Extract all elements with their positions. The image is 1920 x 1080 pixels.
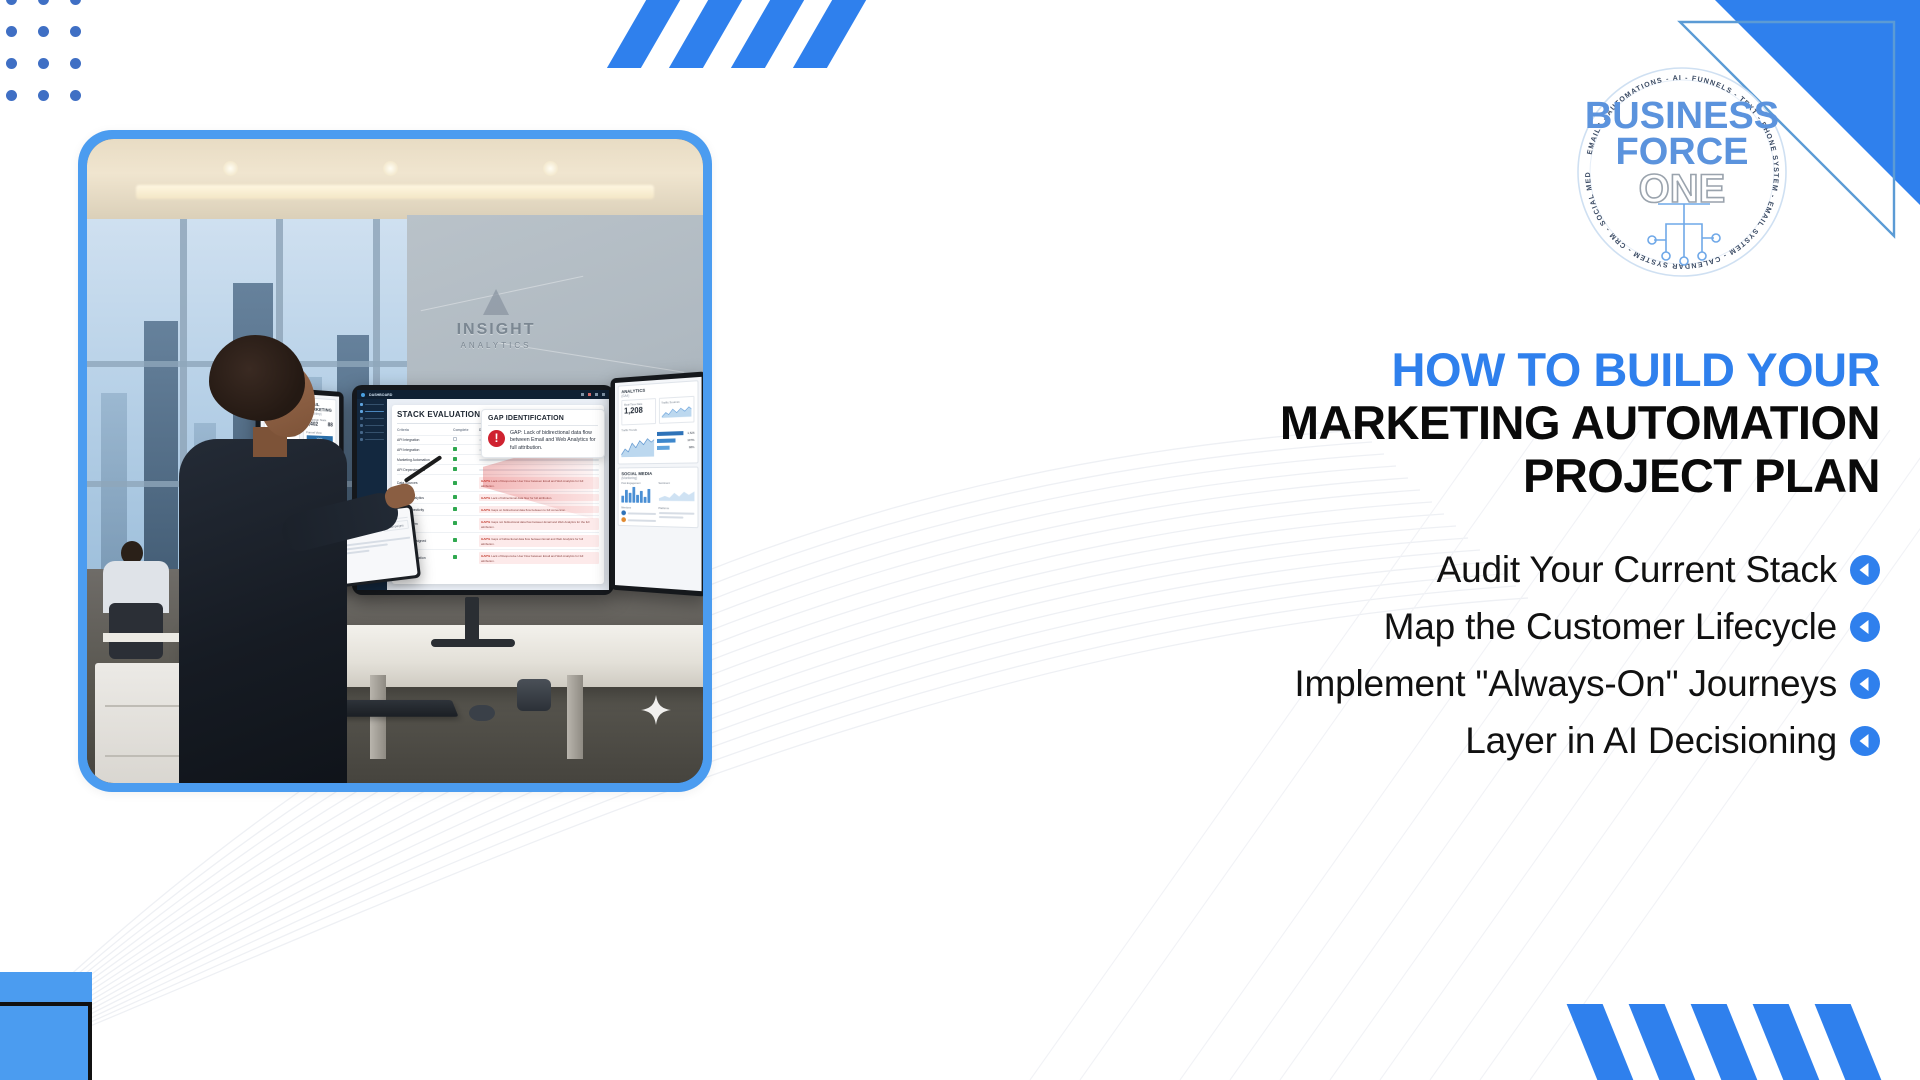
stack-row-gap-tag: GAP% (481, 537, 490, 541)
bullet-label: Implement "Always-On" Journeys (1294, 663, 1837, 705)
stack-row[interactable]: Migration DesignedGAP% Gaps of bidirecti… (397, 532, 599, 547)
col-criteria: Criteria (397, 428, 451, 432)
stack-row-check-icon (453, 437, 457, 441)
decor-stripes-top (630, 0, 930, 64)
alert-exclamation-icon: ! (488, 430, 505, 447)
dashboard-topbar-title: DASHBOARD (369, 393, 392, 397)
photo-person (173, 335, 349, 783)
stack-row-gap-tag: GAP% (481, 496, 490, 500)
stack-row-note: Gaps not bidirectional data flow between… (481, 520, 589, 529)
decor-stripes-bottom (1584, 1008, 1904, 1080)
stack-row-note: Gaps of bidirectional data flow between … (481, 537, 583, 546)
bullet-item[interactable]: Map the Customer Lifecycle (900, 606, 1880, 648)
chevron-left-circle-icon[interactable] (1850, 726, 1880, 756)
stack-row[interactable]: Data ConsolidationGAP% Lack of Responsiv… (397, 549, 599, 564)
gap-card-body: GAP: Lack of bidirectional data flow bet… (510, 430, 598, 453)
stack-row-check-icon (453, 467, 457, 471)
stack-row-check-icon (453, 495, 457, 499)
bullet-item[interactable]: Layer in AI Decisioning (900, 720, 1880, 762)
channel-2-value: 98% (689, 445, 695, 449)
channel-0-value: 1,526 (687, 431, 694, 435)
monitor-stand-neck (465, 597, 479, 641)
bullet-label: Layer in AI Decisioning (1465, 720, 1837, 762)
gap-identification-card: GAP IDENTIFICATION ! GAP: Lack of bidire… (481, 409, 605, 458)
photo-mouse (469, 705, 495, 721)
stack-row-gap-tag: GAP% (481, 508, 490, 512)
chevron-left-circle-icon[interactable] (1850, 612, 1880, 642)
stack-row-check-icon (453, 481, 457, 485)
hero-photo: INSIGHT ANALYTICS CRM (HubSpot) (87, 139, 703, 783)
bullet-list: Audit Your Current StackMap the Customer… (900, 549, 1880, 762)
stack-row-check-icon (453, 521, 457, 525)
bullet-item[interactable]: Audit Your Current Stack (900, 549, 1880, 591)
insight-analytics-name: INSIGHT (457, 321, 536, 339)
photo-wall-brand: INSIGHT ANALYTICS (457, 289, 536, 350)
stack-row-gap-tag: GAP% (481, 520, 490, 524)
col-complete: Complete (453, 428, 477, 432)
gap-card-title: GAP IDENTIFICATION (488, 415, 598, 422)
stack-row-note: Lack of Responsive User Flow between Ema… (481, 554, 583, 563)
photo-ceiling (87, 139, 703, 225)
channel-1-value: 107% (687, 438, 694, 442)
logo-circuit-icon (1648, 204, 1720, 265)
chevron-left-circle-icon[interactable] (1850, 669, 1880, 699)
headline-line-2: MARKETING AUTOMATION (900, 396, 1880, 450)
insight-analytics-mark (483, 289, 509, 315)
brand-logo: EMAILS - AUTOMATIONS - AI - FUNNELS - TE… (1562, 52, 1802, 292)
stack-row-check-icon (453, 457, 457, 461)
stack-row-note: Gaps on bidirectional data flow between … (491, 508, 566, 512)
headline-block: HOW TO BUILD YOUR MARKETING AUTOMATION P… (900, 345, 1880, 777)
photo-monitor-right: ANALYTICS (GA4) Real-Time Data 1,208 Tra… (610, 371, 703, 596)
social-panel-subtitle: (Monitoring) (621, 476, 694, 480)
stack-row-label: API Integration (397, 438, 451, 442)
stack-row-label: Marketing Automation (397, 458, 451, 462)
social-card-2: Mentions (621, 506, 655, 510)
bullet-label: Map the Customer Lifecycle (1384, 606, 1837, 648)
stack-row-check-icon (453, 538, 457, 542)
decor-bottom-left-outline (0, 1002, 92, 1080)
chevron-left-circle-icon[interactable] (1850, 555, 1880, 585)
stack-row-check-icon (453, 447, 457, 451)
bullet-item[interactable]: Implement "Always-On" Journeys (900, 663, 1880, 705)
monitor-stand-base (431, 639, 515, 647)
hero-photo-frame: INSIGHT ANALYTICS CRM (HubSpot) (78, 130, 712, 792)
stack-row-check-icon (453, 555, 457, 559)
headline-kicker: HOW TO BUILD YOUR (900, 345, 1880, 396)
bullet-label: Audit Your Current Stack (1437, 549, 1837, 591)
realtime-value: 1,208 (624, 406, 643, 416)
headline-line-3: PROJECT PLAN (900, 449, 1880, 503)
stack-row[interactable]: Tech PlatformGAP% Gaps not bidirectional… (397, 515, 599, 530)
stack-row-label: API Integration (397, 448, 451, 452)
photo-speaker (517, 679, 551, 711)
sparkle-icon (641, 695, 671, 725)
insight-analytics-sub: ANALYTICS (457, 341, 536, 350)
stack-row-gap-tag: GAP% (481, 554, 490, 558)
stack-row-check-icon (453, 507, 457, 511)
social-card-3: Platforms (658, 507, 694, 511)
